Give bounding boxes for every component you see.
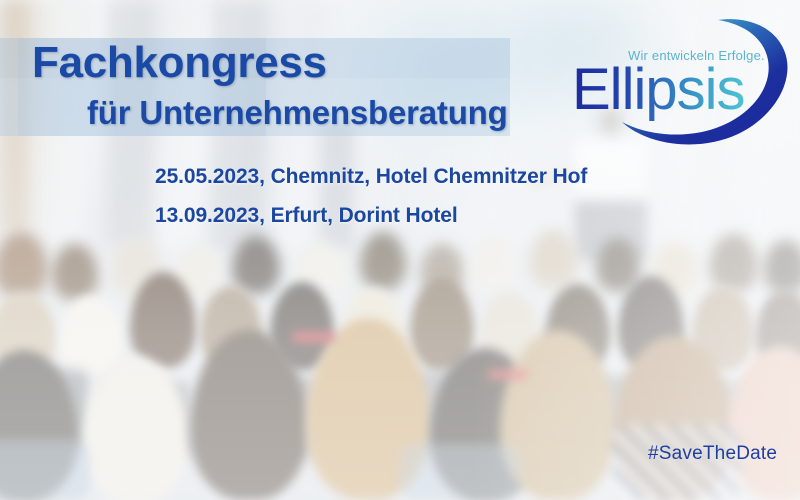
hashtag-save-the-date: #SaveTheDate (648, 443, 777, 465)
ellipsis-logo[interactable]: Wir entwickeln Erfolge. Ellipsis (560, 12, 800, 162)
event-banner: Fachkongress für Unternehmensberatung 25… (0, 0, 800, 500)
page-title: Fachkongress (32, 38, 327, 88)
event-date-line-1: 25.05.2023, Chemnitz, Hotel Chemnitzer H… (155, 165, 587, 189)
page-subtitle: für Unternehmensberatung (87, 94, 508, 132)
event-date-line-2: 13.09.2023, Erfurt, Dorint Hotel (155, 204, 458, 228)
logo-wordmark: Ellipsis (572, 57, 745, 122)
